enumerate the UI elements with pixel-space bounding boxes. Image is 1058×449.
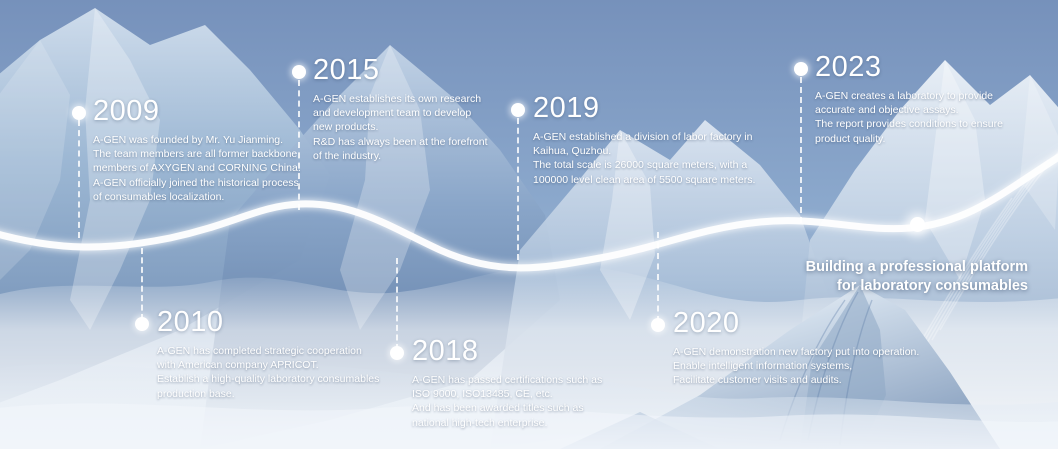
milestone-dot-2023[interactable] (794, 62, 808, 76)
milestone-line: of consumables localization. (93, 190, 301, 204)
timeline-infographic: 2009 A-GEN was founded by Mr. Yu Jianmin… (0, 0, 1058, 449)
dashed-line-2010 (141, 248, 143, 320)
tagline: Building a professional platform for lab… (806, 258, 1028, 296)
milestone-2023: 2023 A-GEN creates a laboratory to provi… (815, 52, 1003, 146)
milestone-line: accurate and objective assays. (815, 103, 1003, 117)
milestone-line: production base. (157, 387, 379, 401)
milestone-line: and development team to develop (313, 106, 488, 120)
milestone-line: of the industry. (313, 149, 488, 163)
milestone-line: A-GEN creates a laboratory to provide (815, 89, 1003, 103)
milestone-line: A-GEN was founded by Mr. Yu Jianming. (93, 133, 301, 147)
milestone-dot-2018[interactable] (390, 346, 404, 360)
milestone-line: Facilitate customer visits and audits. (673, 373, 919, 387)
dashed-line-2019 (517, 118, 519, 260)
milestone-year-2009: 2009 (93, 96, 301, 126)
dashed-line-2018 (396, 258, 398, 350)
milestone-body-2020: A-GEN demonstration new factory put into… (673, 345, 919, 388)
milestone-body-2018: A-GEN has passed certifications such as … (412, 373, 602, 430)
milestone-year-2015: 2015 (313, 55, 488, 85)
tagline-line-1: Building a professional platform (806, 258, 1028, 277)
milestone-dot-2020[interactable] (651, 318, 665, 332)
milestone-dot-2019[interactable] (511, 103, 525, 117)
tagline-line-2: for laboratory consumables (806, 277, 1028, 296)
milestone-2018: 2018 A-GEN has passed certifications suc… (412, 336, 602, 430)
milestone-body-2009: A-GEN was founded by Mr. Yu Jianming. Th… (93, 133, 301, 204)
milestone-line: A-GEN officially joined the historical p… (93, 176, 301, 190)
milestone-dot-2009[interactable] (72, 106, 86, 120)
milestone-body-2019: A-GEN established a division of labor fa… (533, 130, 755, 187)
milestone-year-2020: 2020 (673, 308, 919, 338)
milestone-year-2018: 2018 (412, 336, 602, 366)
milestone-line: Enable intelligent information systems, (673, 359, 919, 373)
milestone-line: The report provides conditions to ensure (815, 117, 1003, 131)
milestone-body-2023: A-GEN creates a laboratory to provide ac… (815, 89, 1003, 146)
milestone-year-2023: 2023 (815, 52, 1003, 82)
milestone-line: members of AXYGEN and CORNING China. (93, 161, 301, 175)
milestone-line: A-GEN has passed certifications such as (412, 373, 602, 387)
milestone-line: A-GEN has completed strategic cooperatio… (157, 344, 379, 358)
milestone-year-2010: 2010 (157, 307, 379, 337)
curve-endpoint-marker (910, 217, 925, 232)
dashed-line-2009 (78, 120, 80, 238)
milestone-line: Kaihua, Quzhou. (533, 144, 755, 158)
milestone-dot-2015[interactable] (292, 65, 306, 79)
milestone-2019: 2019 A-GEN established a division of lab… (533, 93, 755, 187)
dashed-line-2023 (800, 77, 802, 223)
milestone-2015: 2015 A-GEN establishes its own research … (313, 55, 488, 163)
milestone-line: The total scale is 26000 square meters, … (533, 158, 755, 172)
dashed-line-2020 (657, 232, 659, 322)
milestone-line: ISO 9000, ISO13485, CE, etc. (412, 387, 602, 401)
milestone-line: A-GEN demonstration new factory put into… (673, 345, 919, 359)
milestone-dot-2010[interactable] (135, 317, 149, 331)
milestone-line: national high-tech enterprise. (412, 416, 602, 430)
milestone-year-2019: 2019 (533, 93, 755, 123)
milestone-line: A-GEN established a division of labor fa… (533, 130, 755, 144)
milestone-2009: 2009 A-GEN was founded by Mr. Yu Jianmin… (93, 96, 301, 204)
milestone-line: And has been awarded titles such as (412, 401, 602, 415)
milestone-line: Establish a high-quality laboratory cons… (157, 372, 379, 386)
milestone-2020: 2020 A-GEN demonstration new factory put… (673, 308, 919, 388)
milestone-2010: 2010 A-GEN has completed strategic coope… (157, 307, 379, 401)
milestone-line: A-GEN establishes its own research (313, 92, 488, 106)
milestone-line: with American company APRICOT. (157, 358, 379, 372)
milestone-line: product quality. (815, 132, 1003, 146)
milestone-line: new products. (313, 120, 488, 134)
milestone-body-2010: A-GEN has completed strategic cooperatio… (157, 344, 379, 401)
milestone-line: R&D has always been at the forefront (313, 135, 488, 149)
milestone-line: 100000 level clean area of 5500 square m… (533, 173, 755, 187)
milestone-body-2015: A-GEN establishes its own research and d… (313, 92, 488, 163)
milestone-line: The team members are all former backbone (93, 147, 301, 161)
